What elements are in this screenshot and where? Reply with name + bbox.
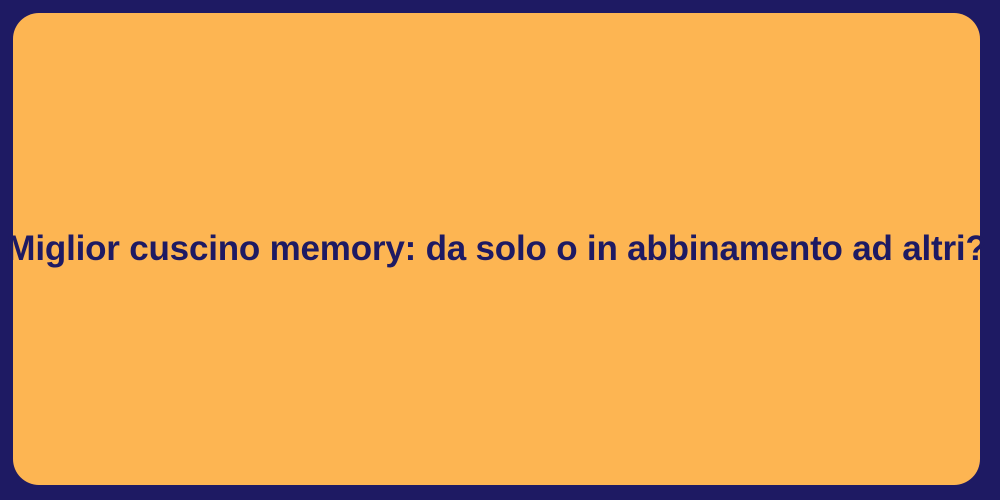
page-title: Miglior cuscino memory: da solo o in abb… [6, 227, 986, 271]
outer-frame: Miglior cuscino memory: da solo o in abb… [0, 0, 1000, 500]
content-card: Miglior cuscino memory: da solo o in abb… [13, 13, 980, 485]
